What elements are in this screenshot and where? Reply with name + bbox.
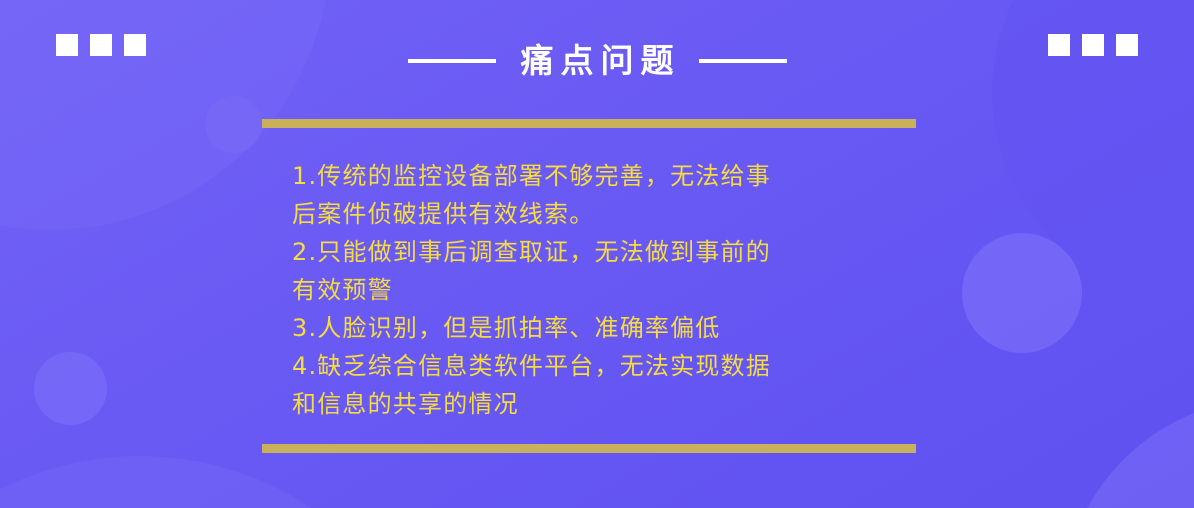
list-item: 和信息的共享的情况 [292,385,932,423]
list-item: 3.人脸识别，但是抓拍率、准确率偏低 [292,309,932,347]
background-circle-bottom-right [1062,398,1194,508]
list-item: 后案件侦破提供有效线索。 [292,195,932,233]
list-item: 1.传统的监控设备部署不够完善，无法给事 [292,157,932,195]
background-circle-bottom-left [0,456,450,508]
page-title-row: 痛点问题 [0,44,1194,77]
title-dash-right-icon [699,59,787,63]
background-circle-right-middle [962,233,1082,353]
divider-bottom [262,444,916,453]
slide-root: 痛点问题 1.传统的监控设备部署不够完善，无法给事 后案件侦破提供有效线索。 2… [0,0,1194,508]
list-item: 2.只能做到事后调查取证，无法做到事前的 [292,233,932,271]
background-circle-left-middle [34,352,107,425]
page-title: 痛点问题 [514,44,681,77]
divider-top [262,119,916,128]
background-circle-top-left-sheen [0,0,330,230]
pain-point-list: 1.传统的监控设备部署不够完善，无法给事 后案件侦破提供有效线索。 2.只能做到… [292,157,932,423]
list-item: 4.缺乏综合信息类软件平台，无法实现数据 [292,347,932,385]
list-item: 有效预警 [292,271,932,309]
background-circle-left-small [205,96,262,153]
title-dash-left-icon [408,59,496,63]
